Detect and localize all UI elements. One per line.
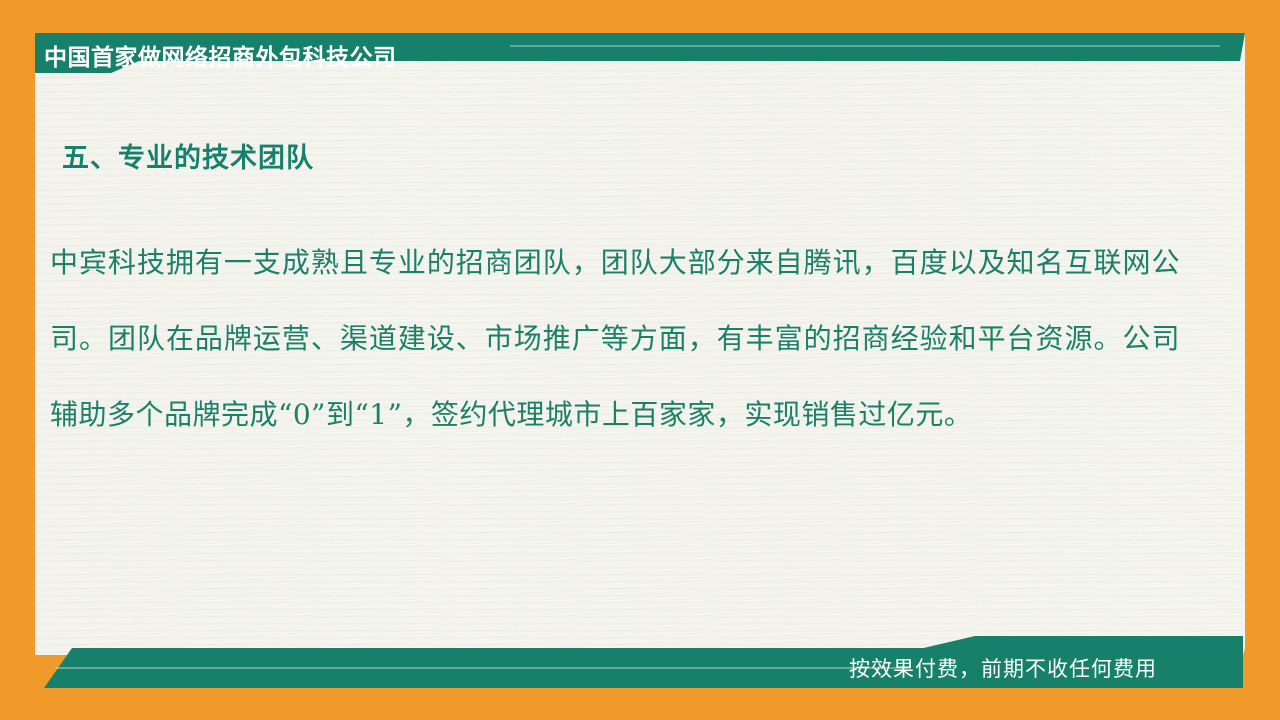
body-paragraph: 中宾科技拥有一支成熟且专业的招商团队，团队大部分来自腾讯，百度以及知名互联网公司… bbox=[50, 225, 1180, 453]
footer-tagline: 按效果付费，前期不收任何费用 bbox=[849, 648, 1157, 688]
footer-ribbon-accent-line bbox=[56, 667, 911, 669]
slide-canvas: 中国首家做网络招商外包科技公司 五、专业的技术团队 中宾科技拥有一支成熟且专业的… bbox=[0, 0, 1280, 720]
section-heading: 五、专业的技术团队 bbox=[62, 136, 314, 175]
header-title: 中国首家做网络招商外包科技公司 bbox=[44, 38, 397, 72]
header-ribbon-accent-line bbox=[510, 45, 1220, 47]
